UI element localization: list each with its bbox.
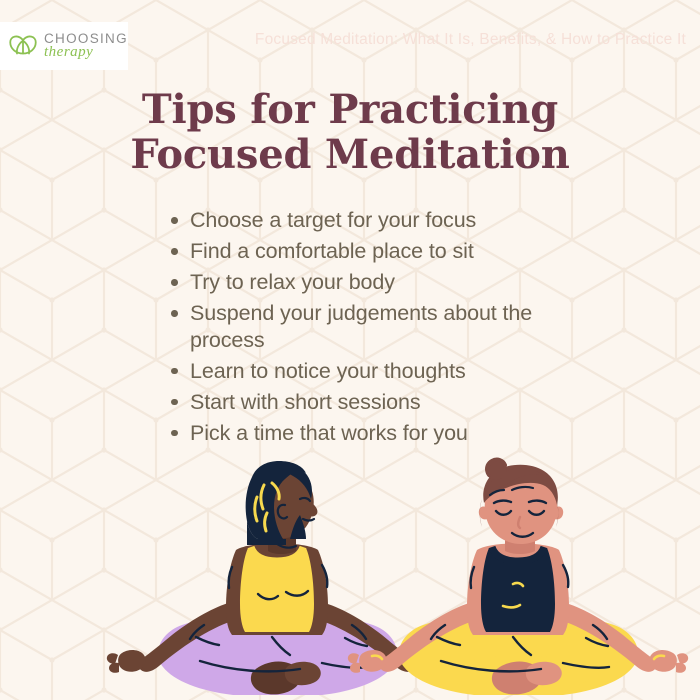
- page-title: Tips for Practicing Focused Meditation: [0, 88, 700, 178]
- list-item: Start with short sessions: [168, 389, 588, 416]
- article-title-watermark: Focused Meditation: What It Is, Benefits…: [255, 31, 686, 49]
- page-title-line-2: Focused Meditation: [0, 133, 700, 178]
- page-title-line-1: Tips for Practicing: [0, 88, 700, 133]
- list-item: Find a comfortable place to sit: [168, 238, 588, 265]
- lotus-leaf-icon: [8, 31, 38, 61]
- meditation-illustration: [0, 455, 700, 700]
- brand-logo[interactable]: CHOOSING therapy: [0, 22, 128, 70]
- brand-name-secondary: therapy: [44, 45, 128, 60]
- meditating-woman-right: [348, 458, 688, 695]
- list-item: Try to relax your body: [168, 269, 588, 296]
- list-item: Learn to notice your thoughts: [168, 358, 588, 385]
- list-item: Choose a target for your focus: [168, 207, 588, 234]
- list-item: Pick a time that works for you: [168, 420, 588, 447]
- list-item: Suspend your judgements about the proces…: [168, 300, 588, 353]
- tips-list: Choose a target for your focus Find a co…: [168, 207, 588, 451]
- brand-wordmark: CHOOSING therapy: [44, 32, 128, 60]
- poster-canvas: CHOOSING therapy Focused Meditation: Wha…: [0, 0, 700, 700]
